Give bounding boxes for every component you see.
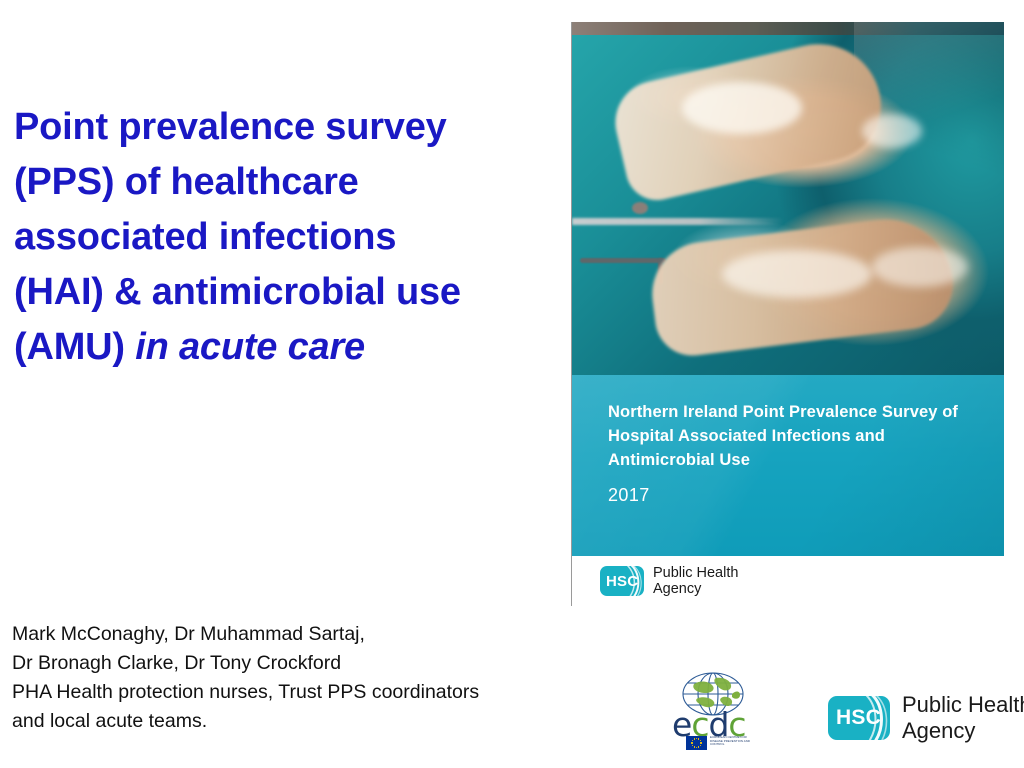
eu-flag-icon — [686, 736, 707, 750]
sink-edge — [572, 218, 784, 225]
hsc-mark-icon: HSC — [828, 696, 890, 740]
soap-foam — [722, 250, 872, 298]
author-credits: Mark McConaghy, Dr Muhammad Sartaj, Dr B… — [12, 620, 582, 736]
title-line-1: Point prevalence survey — [14, 106, 447, 148]
hsc-mark-icon: HSC — [600, 566, 644, 596]
hsc-logo-line-2: Agency — [653, 581, 738, 597]
cover-title-band: Northern Ireland Point Prevalence Survey… — [572, 375, 1004, 556]
ecdc-subtitle-row: European Centre for Disease Prevention a… — [686, 736, 758, 750]
title-emphasis: in acute care — [135, 326, 365, 368]
cover-year: 2017 — [608, 485, 650, 506]
author-line-2: Dr Bronagh Clarke, Dr Tony Crockford — [12, 649, 582, 678]
report-cover-image: Northern Ireland Point Prevalence Survey… — [571, 22, 1004, 606]
handwashing-photo — [572, 22, 1004, 375]
title-line-2: (PPS) of healthcare — [14, 161, 359, 203]
cover-footer: HSC Public Health Agency — [572, 556, 1004, 606]
hsc-logo-line-1: Public Health — [653, 565, 738, 581]
author-line-1: Mark McConaghy, Dr Muhammad Sartaj, — [12, 620, 582, 649]
author-line-3: PHA Health protection nurses, Trust PPS … — [12, 678, 582, 707]
soap-foam — [862, 114, 922, 148]
hsc-logo-line-1: Public Health — [902, 692, 1024, 718]
title-line-5: (AMU) — [14, 326, 135, 368]
hsc-logo-line-2: Agency — [902, 718, 1024, 744]
page-title: Point prevalence survey (PPS) of healthc… — [14, 100, 570, 375]
hsc-logo-words: Public Health Agency — [902, 692, 1024, 744]
soap-foam — [682, 82, 802, 134]
cover-title-text: Northern Ireland Point Prevalence Survey… — [608, 400, 988, 472]
ecdc-logo: ecdc European Centre for Disease Prevent… — [664, 672, 770, 752]
soap-foam — [872, 247, 968, 287]
title-line-3: associated infections — [14, 216, 396, 258]
hsc-public-health-agency-logo-footer: HSC Public Health Agency — [828, 692, 1024, 744]
author-line-4: and local acute teams. — [12, 707, 582, 736]
sink-knob — [632, 202, 648, 214]
hsc-public-health-agency-logo: HSC Public Health Agency — [600, 565, 738, 597]
hsc-logo-words: Public Health Agency — [653, 565, 738, 597]
tap-spout — [580, 258, 666, 263]
ecdc-subtitle: European Centre for Disease Prevention a… — [710, 736, 758, 747]
title-line-4: (HAI) & antimicrobial use — [14, 271, 461, 313]
